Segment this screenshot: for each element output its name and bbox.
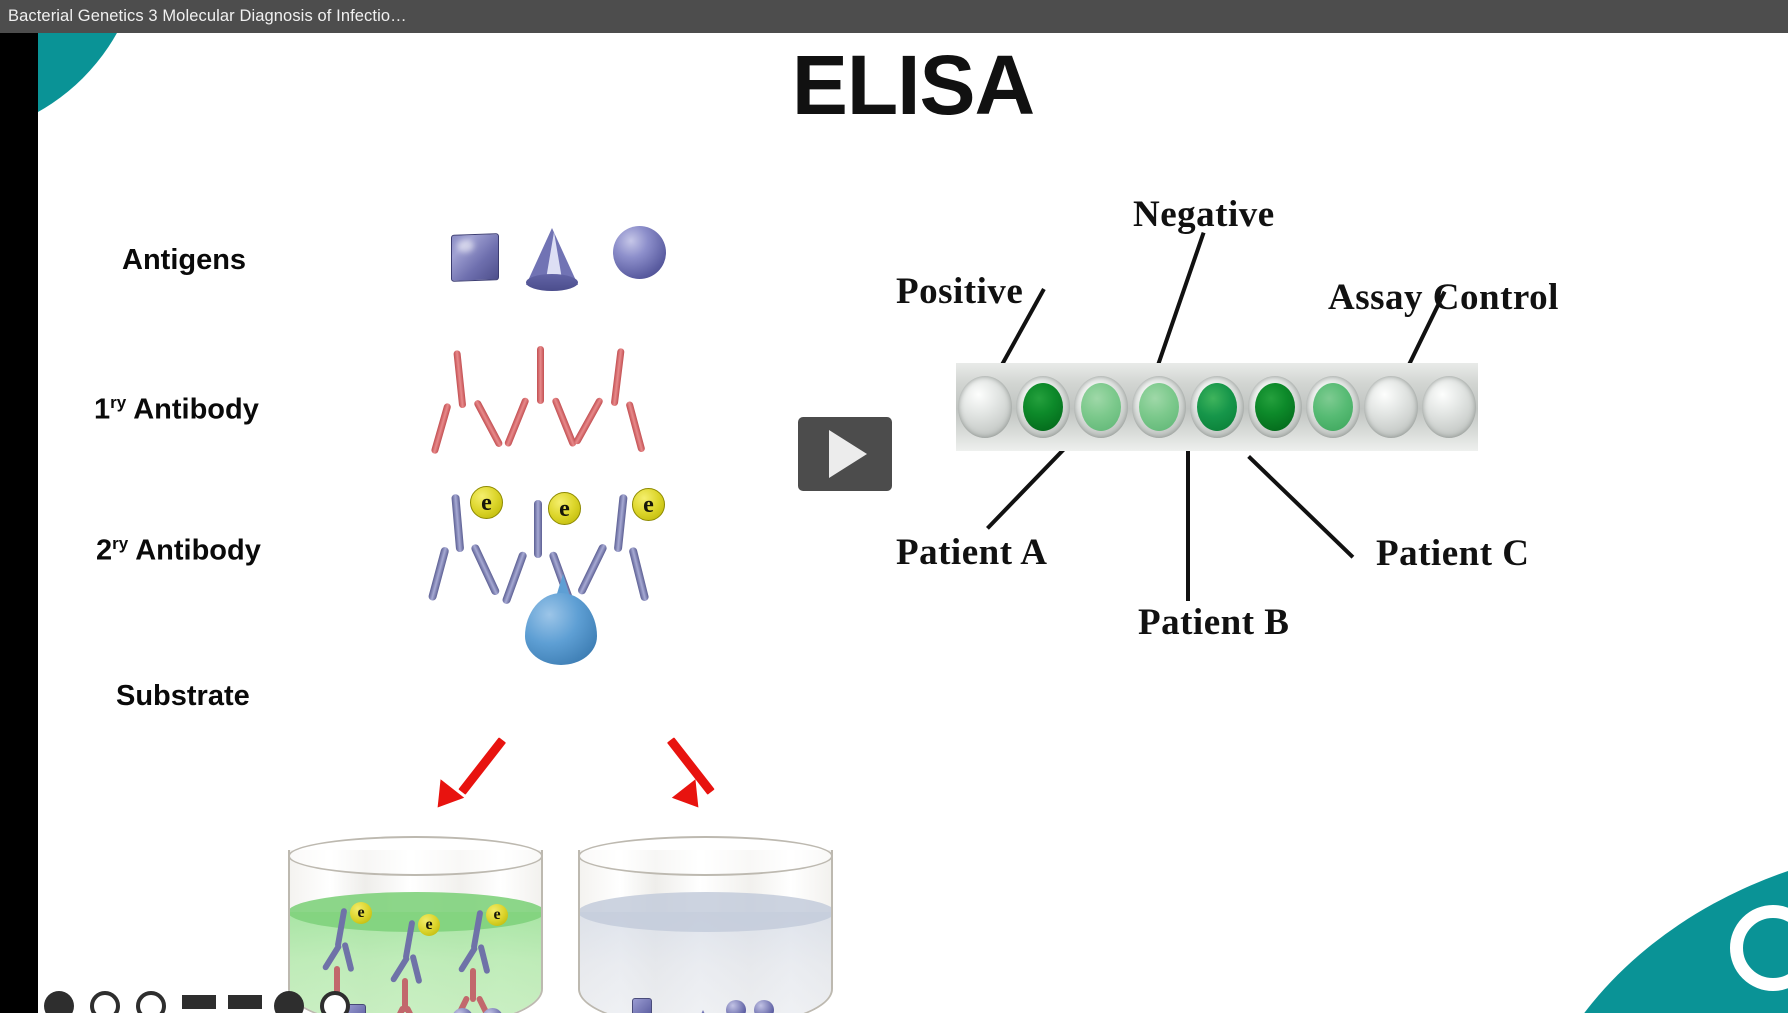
plate-well-1: [958, 376, 1012, 438]
plate-label-patient-c: Patient C: [1376, 532, 1530, 575]
primary-antibody-icon: [579, 345, 652, 461]
page-title: ELISA: [38, 37, 1788, 134]
arrow-left-head: [426, 779, 464, 816]
enzyme-marker-icon: e: [350, 902, 372, 924]
plate-label-negative: Negative: [1133, 193, 1275, 236]
label-primary-antibody: 1ry Antibody: [94, 393, 259, 427]
progress-control-icon[interactable]: [136, 991, 166, 1013]
plate-well-8: [1364, 376, 1418, 438]
plate-label-patient-b: Patient B: [1138, 601, 1289, 644]
enzyme-marker-icon: e: [486, 904, 508, 926]
label-antigens: Antigens: [122, 244, 246, 277]
play-button[interactable]: [798, 417, 892, 491]
fullscreen-control-icon[interactable]: [320, 991, 350, 1013]
video-player: Bacterial Genetics 3 Molecular Diagnosis…: [0, 0, 1788, 1013]
negative-reaction-well: [578, 836, 833, 1013]
video-title: Bacterial Genetics 3 Molecular Diagnosis…: [0, 7, 407, 26]
positive-reaction-well: e e: [288, 836, 543, 1013]
substrate-droplet-icon: [503, 583, 623, 693]
plate-well-7-assay-control: [1306, 376, 1360, 438]
label-secondary-antibody: 2ry Antibody: [96, 534, 261, 568]
well-rim: [578, 836, 833, 876]
player-control-bar[interactable]: [38, 991, 1788, 1013]
primary-antibody-icon: [427, 347, 498, 463]
plate-well-4-patient-a: [1132, 376, 1186, 438]
primary-antibody-row: [433, 346, 683, 461]
plate-well-2-positive: [1016, 376, 1070, 438]
settings-control-icon[interactable]: [90, 991, 120, 1013]
antigen-cube-icon: [451, 233, 499, 282]
plate-well-6-patient-c: [1248, 376, 1302, 438]
clear-liquid-surface: [578, 892, 833, 932]
plate-label-positive: Positive: [896, 270, 1023, 313]
volume-control-icon[interactable]: [274, 991, 304, 1013]
plate-label-patient-a: Patient A: [896, 531, 1047, 574]
play-control-icon[interactable]: [44, 991, 74, 1013]
play-icon: [829, 430, 867, 478]
leader-line-patient-b: [1186, 451, 1190, 601]
enzyme-marker-icon: e: [548, 492, 581, 525]
antigen-sphere-icon: [613, 226, 666, 279]
antigen-shapes-row: [433, 220, 683, 300]
video-title-bar: Bacterial Genetics 3 Molecular Diagnosis…: [0, 0, 1788, 33]
enzyme-marker-icon: e: [632, 488, 665, 521]
slide-canvas: ELISA Antigens 1ry Antibody 2ry Antibody…: [38, 33, 1788, 1013]
droplet-body: [525, 593, 597, 665]
enzyme-marker-icon: e: [418, 914, 440, 936]
arrow-left-shaft: [458, 737, 506, 795]
antigen-cone-base: [526, 274, 578, 291]
primary-antibody-icon: [511, 346, 571, 456]
enzyme-marker-icon: e: [470, 486, 503, 519]
plate-well-3-negative: [1074, 376, 1128, 438]
plate-well-5-patient-b: [1190, 376, 1244, 438]
elisa-plate-results-diagram: Positive Negative Assay Control Patient …: [838, 143, 1788, 703]
leader-line-patient-c: [1247, 455, 1354, 559]
plate-well-9: [1422, 376, 1476, 438]
label-substrate: Substrate: [116, 680, 250, 713]
microplate-strip: [956, 363, 1478, 451]
timeline-bar-left[interactable]: [182, 991, 212, 1013]
elisa-mechanism-diagram: Antigens 1ry Antibody 2ry Antibody Subst…: [38, 128, 908, 1008]
timeline-bar-right[interactable]: [228, 991, 258, 1013]
well-rim: [288, 836, 543, 876]
